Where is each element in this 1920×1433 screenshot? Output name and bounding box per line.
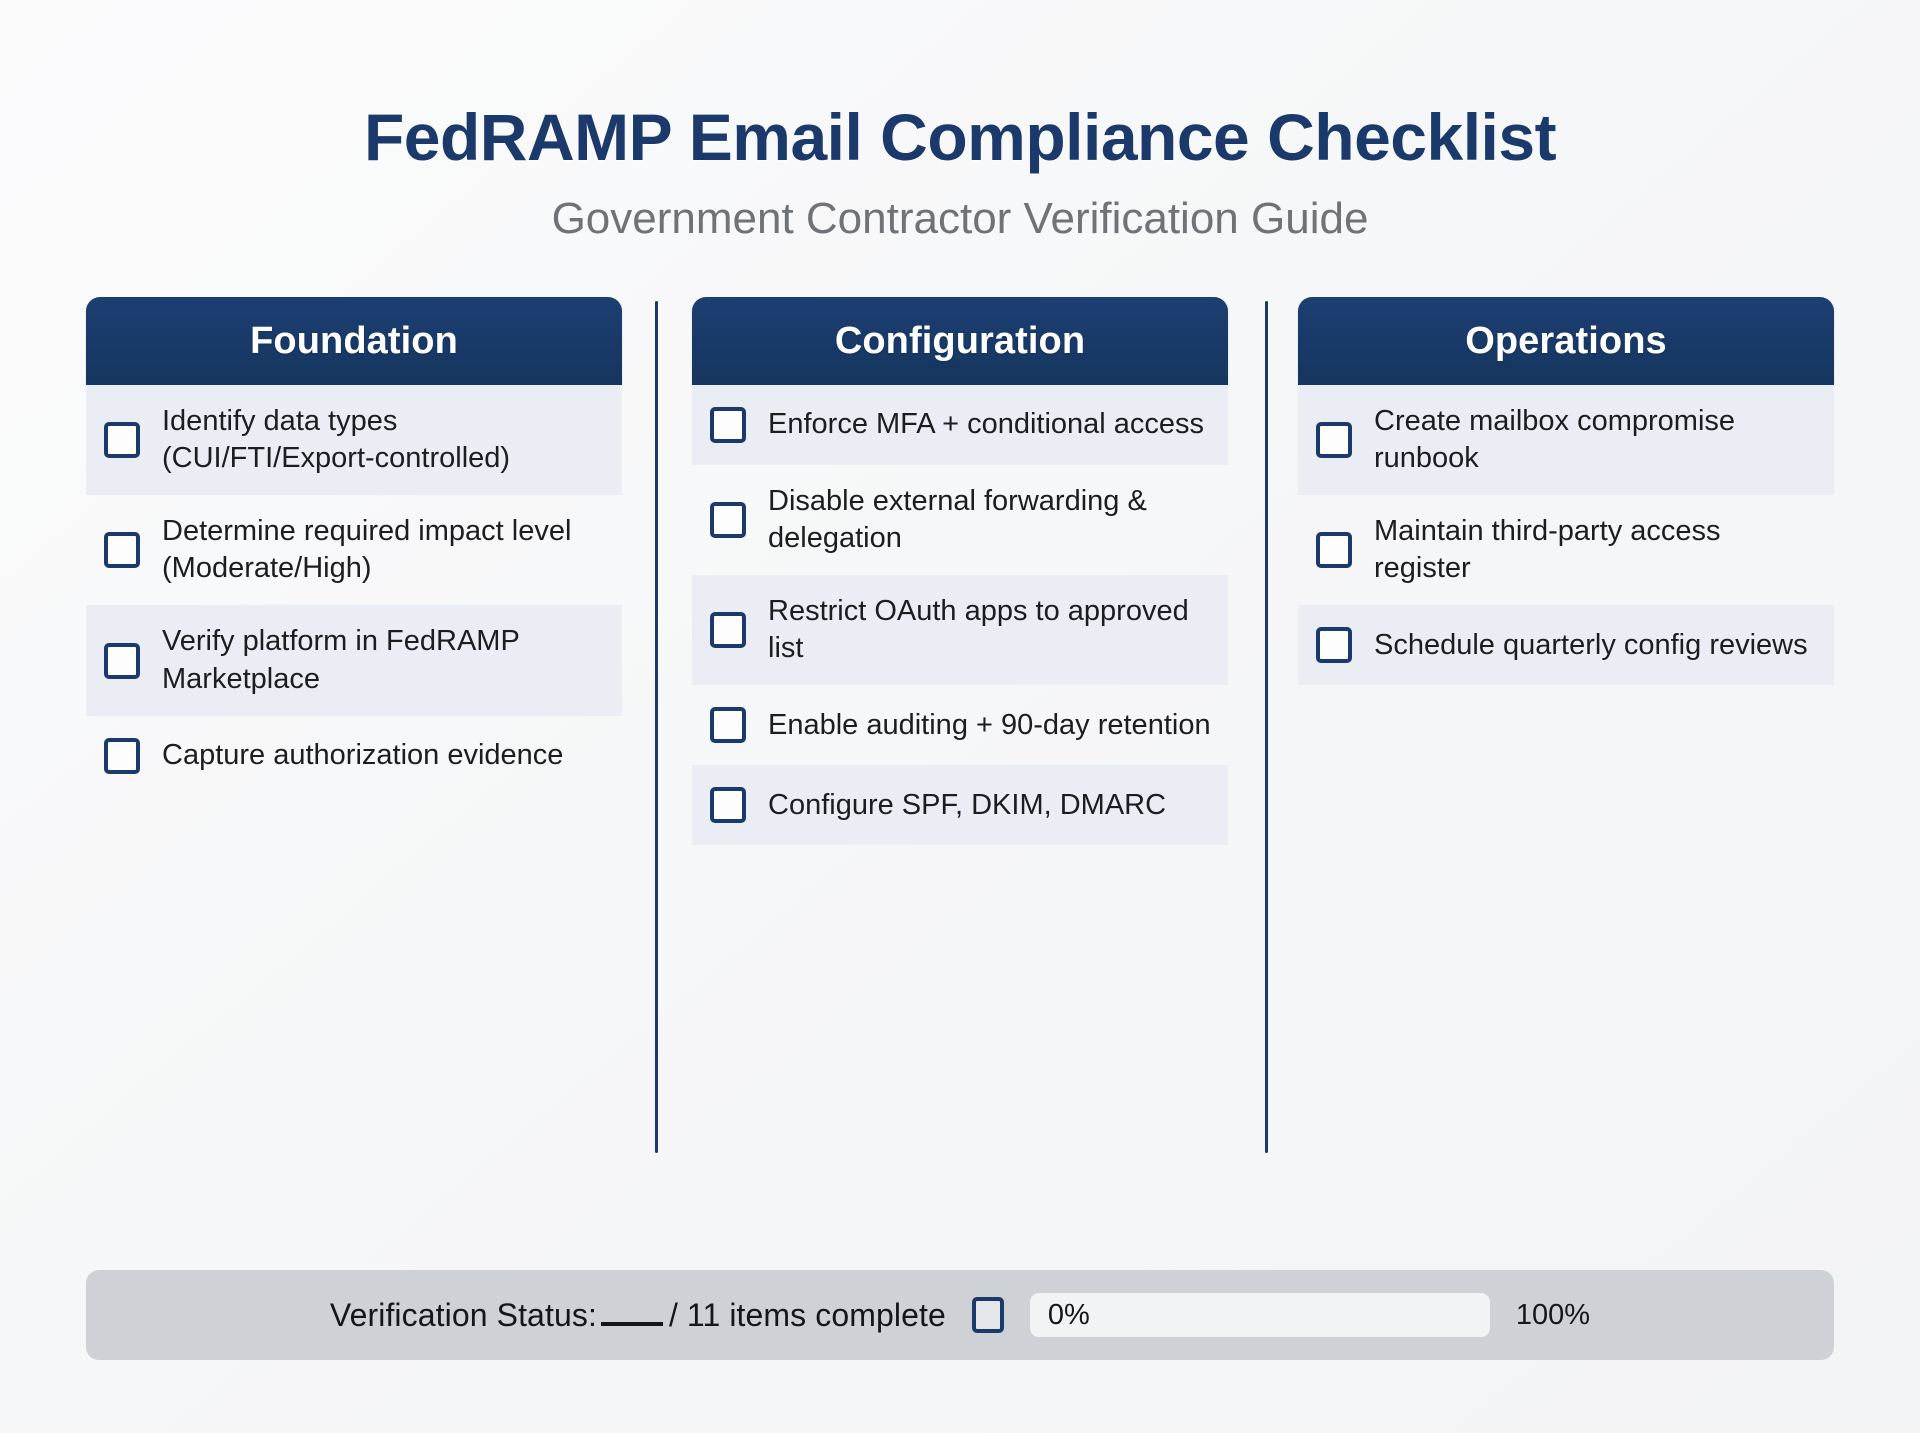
column-header-label: Operations (1465, 320, 1667, 363)
verification-status-bar: Verification Status:/ 11 items complete … (86, 1270, 1834, 1360)
checklist-columns: FoundationIdentify data types (CUI/FTI/E… (0, 297, 1920, 845)
checkbox-icon[interactable] (710, 707, 746, 743)
status-suffix: / 11 items complete (669, 1297, 946, 1333)
column-divider-2 (1265, 301, 1268, 1153)
checklist-item[interactable]: Identify data types (CUI/FTI/Export-cont… (86, 385, 622, 495)
checklist-item-label: Capture authorization evidence (162, 737, 563, 774)
column-header-label: Foundation (250, 320, 458, 363)
checkbox-icon[interactable] (1316, 422, 1352, 458)
checklist-item-label: Enable auditing + 90-day retention (768, 707, 1211, 744)
checkbox-icon[interactable] (1316, 627, 1352, 663)
checklist-page: FedRAMP Email Compliance Checklist Gover… (0, 0, 1920, 1433)
checklist-column-operations: OperationsCreate mailbox compromise runb… (1298, 297, 1834, 685)
column-header-foundation: Foundation (86, 297, 622, 385)
status-prefix: Verification Status: (330, 1297, 597, 1333)
checklist-item[interactable]: Enable auditing + 90-day retention (692, 685, 1228, 765)
checkbox-icon[interactable] (710, 407, 746, 443)
progress-bar[interactable]: 0% (1030, 1293, 1490, 1337)
checklist-item[interactable]: Maintain third-party access register (1298, 495, 1834, 605)
status-blank-field[interactable] (601, 1322, 663, 1326)
checklist-item[interactable]: Determine required impact level (Moderat… (86, 495, 622, 605)
status-checkbox[interactable] (972, 1297, 1004, 1333)
checklist-item[interactable]: Create mailbox compromise runbook (1298, 385, 1834, 495)
checklist-item-label: Disable external forwarding & delegation (768, 483, 1212, 557)
checklist-item[interactable]: Verify platform in FedRAMP Marketplace (86, 605, 622, 715)
checklist-item[interactable]: Enforce MFA + conditional access (692, 385, 1228, 465)
progress-min-label: 0% (1048, 1299, 1090, 1332)
checklist-item-label: Enforce MFA + conditional access (768, 406, 1204, 443)
title-block: FedRAMP Email Compliance Checklist Gover… (0, 104, 1920, 241)
checklist-column-foundation: FoundationIdentify data types (CUI/FTI/E… (86, 297, 622, 796)
column-header-operations: Operations (1298, 297, 1834, 385)
checklist-item[interactable]: Capture authorization evidence (86, 716, 622, 796)
checklist-item[interactable]: Schedule quarterly config reviews (1298, 605, 1834, 685)
checkbox-icon[interactable] (1316, 532, 1352, 568)
verification-status-label: Verification Status:/ 11 items complete (330, 1297, 946, 1334)
page-title: FedRAMP Email Compliance Checklist (0, 104, 1920, 170)
checklist-item-label: Identify data types (CUI/FTI/Export-cont… (162, 403, 606, 477)
checklist-item-label: Schedule quarterly config reviews (1374, 627, 1808, 664)
checklist-item[interactable]: Restrict OAuth apps to approved list (692, 575, 1228, 685)
column-items-operations: Create mailbox compromise runbookMaintai… (1298, 385, 1834, 685)
checkbox-icon[interactable] (104, 422, 140, 458)
checkbox-icon[interactable] (104, 532, 140, 568)
column-items-foundation: Identify data types (CUI/FTI/Export-cont… (86, 385, 622, 796)
column-items-configuration: Enforce MFA + conditional accessDisable … (692, 385, 1228, 845)
checklist-item-label: Determine required impact level (Moderat… (162, 513, 606, 587)
checkbox-icon[interactable] (710, 787, 746, 823)
page-subtitle: Government Contractor Verification Guide (0, 197, 1920, 241)
checkbox-icon[interactable] (710, 502, 746, 538)
checklist-item[interactable]: Configure SPF, DKIM, DMARC (692, 765, 1228, 845)
column-divider-1 (655, 301, 658, 1153)
checklist-item-label: Configure SPF, DKIM, DMARC (768, 787, 1166, 824)
checkbox-icon[interactable] (104, 643, 140, 679)
column-header-configuration: Configuration (692, 297, 1228, 385)
column-header-label: Configuration (835, 320, 1085, 363)
checkbox-icon[interactable] (710, 612, 746, 648)
checklist-item-label: Maintain third-party access register (1374, 513, 1818, 587)
checklist-item-label: Verify platform in FedRAMP Marketplace (162, 623, 606, 697)
checklist-item-label: Restrict OAuth apps to approved list (768, 593, 1212, 667)
checkbox-icon[interactable] (104, 738, 140, 774)
progress-max-label: 100% (1516, 1299, 1590, 1332)
checklist-item[interactable]: Disable external forwarding & delegation (692, 465, 1228, 575)
checklist-item-label: Create mailbox compromise runbook (1374, 403, 1818, 477)
checklist-column-configuration: ConfigurationEnforce MFA + conditional a… (692, 297, 1228, 845)
